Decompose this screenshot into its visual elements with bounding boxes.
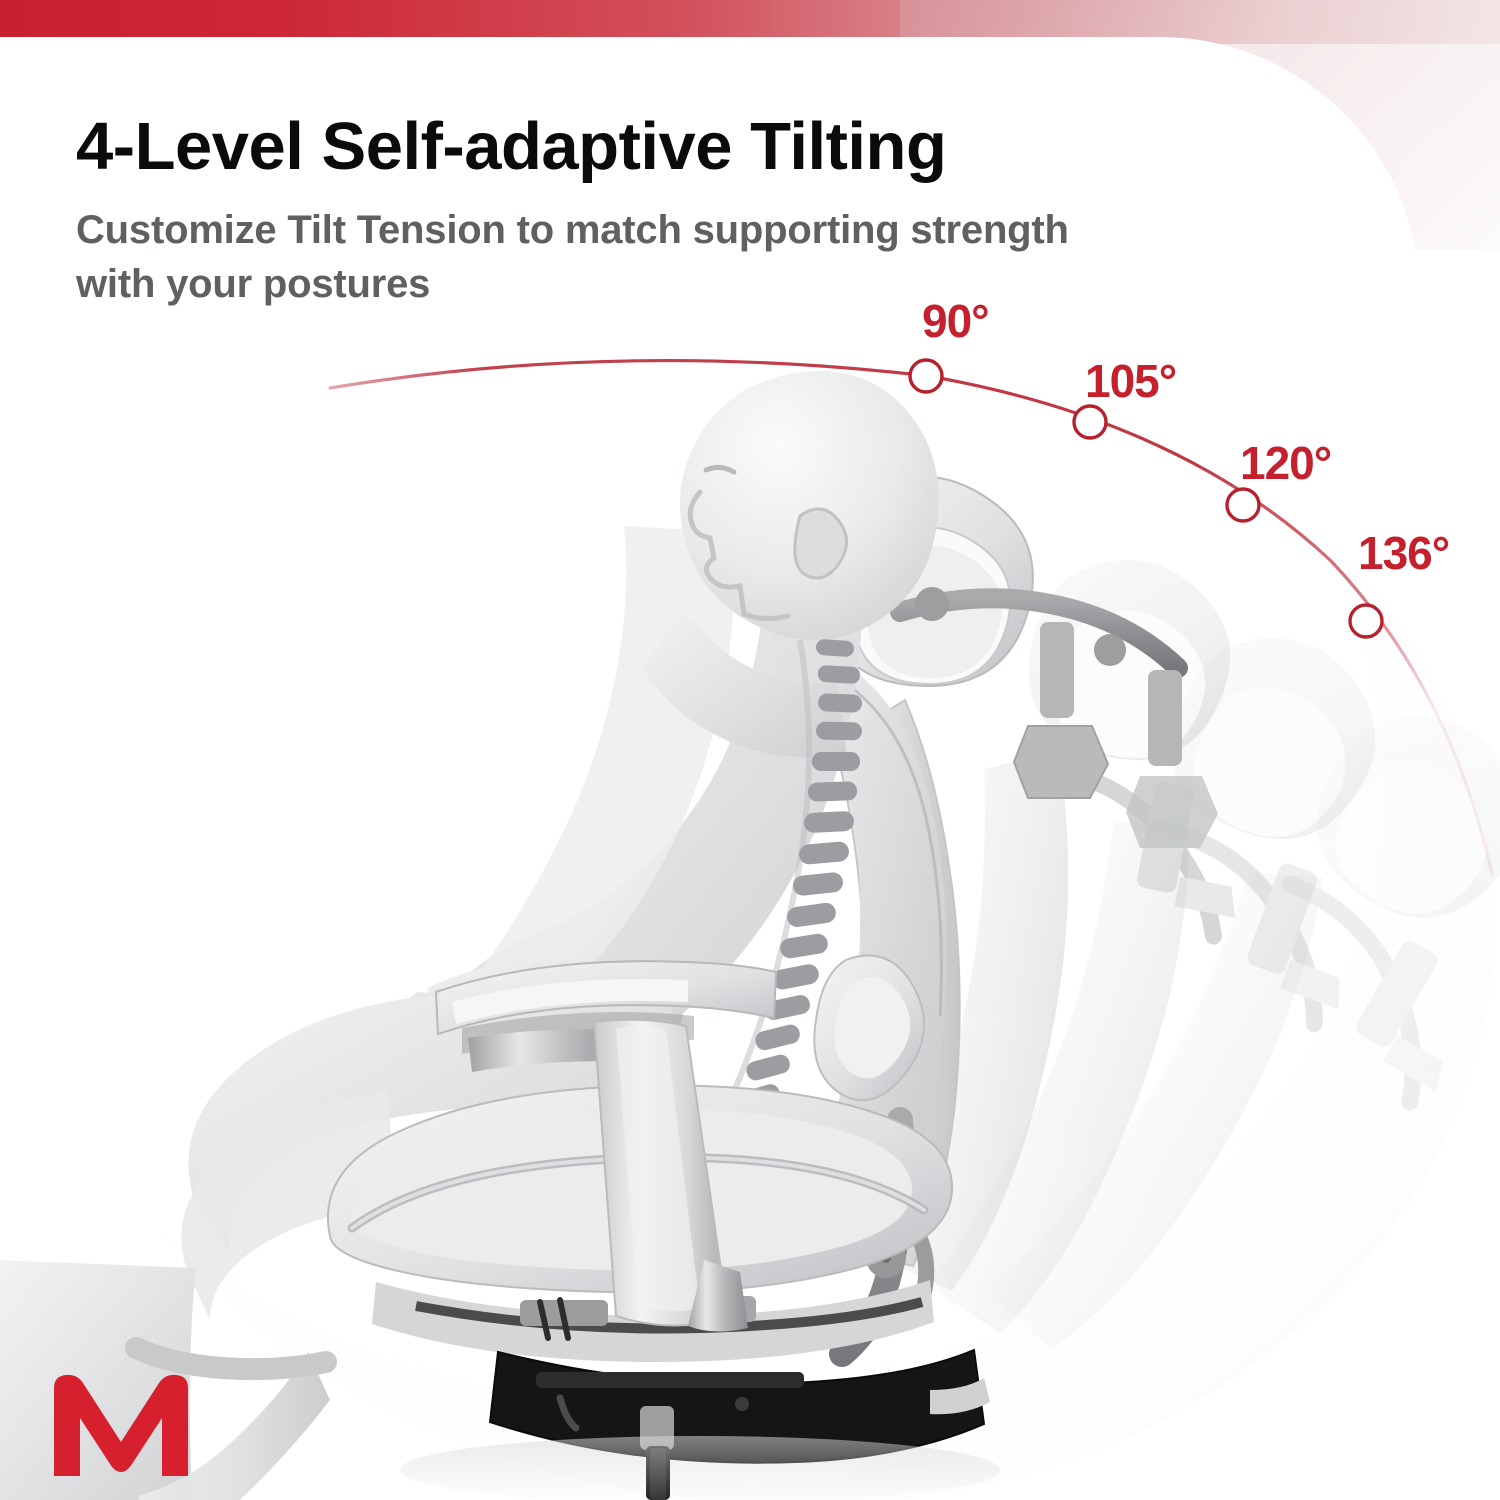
- product-stage-ellipse: [55, 330, 1495, 1500]
- infographic-page: 4-Level Self-adaptive Tilting Customize …: [0, 0, 1500, 1500]
- brand-logo-m-icon: [48, 1372, 194, 1478]
- angle-label-105: 105°: [1085, 358, 1176, 404]
- header-block: 4-Level Self-adaptive Tilting Customize …: [76, 112, 1196, 311]
- angle-label-90: 90°: [922, 298, 989, 344]
- angle-label-136: 136°: [1358, 530, 1449, 576]
- page-title: 4-Level Self-adaptive Tilting: [76, 112, 1196, 182]
- angle-label-120: 120°: [1240, 440, 1331, 486]
